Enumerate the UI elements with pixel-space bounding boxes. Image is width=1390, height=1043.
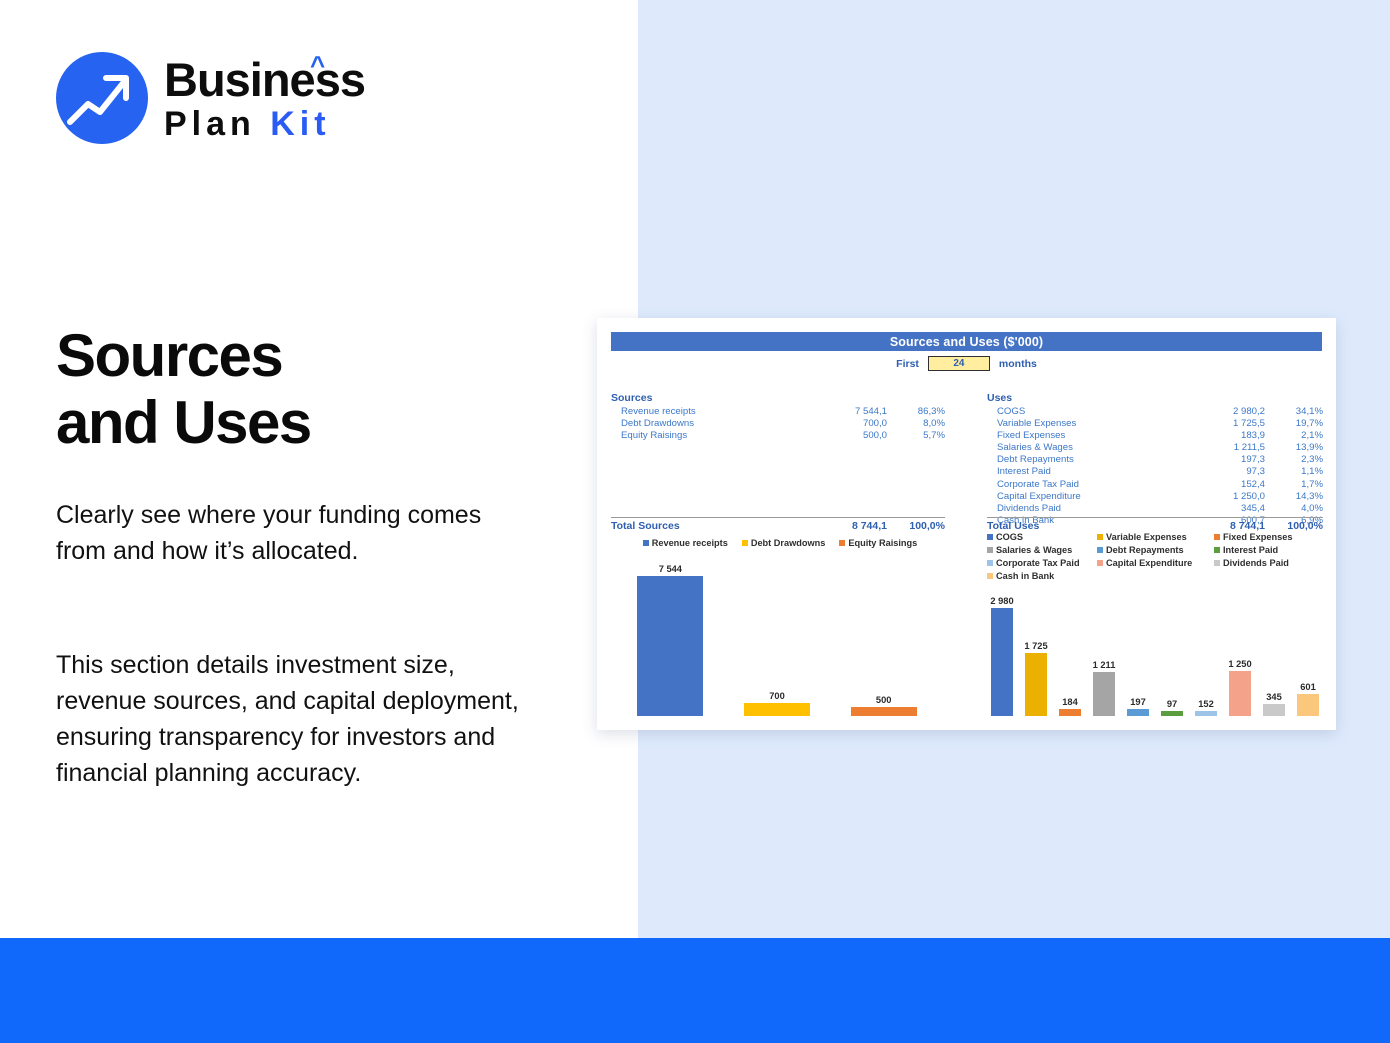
uses-rows: COGS2 980,234,1%Variable Expenses1 725,5… xyxy=(987,406,1323,527)
legend-item: Dividends Paid xyxy=(1214,558,1319,568)
table-row: Equity Raisings500,05,7% xyxy=(611,430,945,442)
legend-item: COGS xyxy=(987,532,1097,542)
period-suffix-label: months xyxy=(999,358,1037,370)
sources-total-row: Total Sources8 744,1100,0% xyxy=(611,517,945,532)
legend-item: Fixed Expenses xyxy=(1214,532,1319,542)
row-percent: 8,0% xyxy=(887,418,945,430)
bar-slot: 601 xyxy=(1291,584,1325,716)
row-percent: 1,1% xyxy=(1265,466,1323,478)
brand-name-line1: Business ^ xyxy=(164,56,365,103)
bar-value-label: 152 xyxy=(1198,699,1214,709)
bar-value-label: 7 544 xyxy=(659,564,682,574)
sources-bars: 7 544700500 xyxy=(617,552,937,716)
page-title: Sources and Uses xyxy=(56,322,576,456)
bottom-blue-band xyxy=(0,938,1390,1043)
legend-label: Revenue receipts xyxy=(652,538,728,548)
row-label: Equity Raisings xyxy=(611,430,801,442)
total-value: 8 744,1 xyxy=(801,520,887,532)
bar-slot: 197 xyxy=(1121,584,1155,716)
bar-slot: 1 250 xyxy=(1223,584,1257,716)
bar xyxy=(1093,672,1115,716)
legend-swatch-icon xyxy=(987,534,993,540)
legend-label: Debt Repayments xyxy=(1106,545,1184,555)
row-label: COGS xyxy=(987,406,1179,418)
table-row: Variable Expenses1 725,519,7% xyxy=(987,418,1323,430)
period-selector-row: First months xyxy=(611,356,1322,371)
legend-item: Debt Repayments xyxy=(1097,545,1214,555)
table-row: Fixed Expenses183,92,1% xyxy=(987,430,1323,442)
legend-item: Variable Expenses xyxy=(1097,532,1214,542)
legend-label: Corporate Tax Paid xyxy=(996,558,1080,568)
legend-item: Cash in Bank xyxy=(987,571,1097,581)
row-value: 1 725,5 xyxy=(1179,418,1265,430)
months-input[interactable] xyxy=(928,356,990,371)
bar-slot: 345 xyxy=(1257,584,1291,716)
legend-item: Interest Paid xyxy=(1214,545,1319,555)
bar-slot: 1 211 xyxy=(1087,584,1121,716)
row-value: 7 544,1 xyxy=(801,406,887,418)
bar-slot: 184 xyxy=(1053,584,1087,716)
uses-table: Uses COGS2 980,234,1%Variable Expenses1 … xyxy=(987,392,1323,527)
legend-label: COGS xyxy=(996,532,1023,542)
table-row: COGS2 980,234,1% xyxy=(987,406,1323,418)
uses-total-row: Total Uses8 744,1100,0% xyxy=(987,517,1323,532)
bar-value-label: 700 xyxy=(769,691,785,701)
row-percent: 34,1% xyxy=(1265,406,1323,418)
total-label: Total Uses xyxy=(987,520,1179,532)
legend-item: Salaries & Wages xyxy=(987,545,1097,555)
legend-swatch-icon xyxy=(742,540,748,546)
row-value: 500,0 xyxy=(801,430,887,442)
bar-slot: 2 980 xyxy=(985,584,1019,716)
row-value: 197,3 xyxy=(1179,454,1265,466)
row-value: 2 980,2 xyxy=(1179,406,1265,418)
period-prefix-label: First xyxy=(896,358,919,370)
legend-label: Fixed Expenses xyxy=(1223,532,1292,542)
bar-value-label: 197 xyxy=(1130,697,1146,707)
row-value: 1 211,5 xyxy=(1179,442,1265,454)
bar-value-label: 1 211 xyxy=(1093,660,1116,670)
brand-wordmark: Business ^ Plan Kit xyxy=(164,56,365,141)
legend-swatch-icon xyxy=(1097,560,1103,566)
legend-label: Debt Drawdowns xyxy=(751,538,826,548)
legend-swatch-icon xyxy=(1214,560,1220,566)
total-value: 8 744,1 xyxy=(1179,520,1265,532)
uses-chart-legend: COGSVariable ExpensesFixed ExpensesSalar… xyxy=(987,532,1323,581)
bar-value-label: 1 250 xyxy=(1228,659,1251,669)
bar xyxy=(637,576,703,716)
legend-swatch-icon xyxy=(987,573,993,579)
bar-value-label: 184 xyxy=(1062,697,1078,707)
legend-item: Capital Expenditure xyxy=(1097,558,1214,568)
uses-heading: Uses xyxy=(987,392,1323,404)
row-label: Debt Drawdowns xyxy=(611,418,801,430)
legend-swatch-icon xyxy=(1214,547,1220,553)
bar-slot: 97 xyxy=(1155,584,1189,716)
legend-swatch-icon xyxy=(1097,534,1103,540)
bar xyxy=(1297,694,1319,716)
row-percent: 2,3% xyxy=(1265,454,1323,466)
row-label: Dividends Paid xyxy=(987,503,1179,515)
bar xyxy=(1025,653,1047,716)
row-value: 700,0 xyxy=(801,418,887,430)
row-label: Debt Repayments xyxy=(987,454,1179,466)
row-label: Corporate Tax Paid xyxy=(987,479,1179,491)
legend-label: Cash in Bank xyxy=(996,571,1054,581)
bar xyxy=(1161,711,1183,716)
description-paragraph-1: Clearly see where your funding comes fro… xyxy=(56,497,526,569)
legend-label: Variable Expenses xyxy=(1106,532,1187,542)
row-percent: 19,7% xyxy=(1265,418,1323,430)
uses-bars: 2 9801 7251841 211197971521 250345601 xyxy=(985,584,1325,716)
sources-rows: Revenue receipts7 544,186,3%Debt Drawdow… xyxy=(611,406,945,442)
bar-value-label: 97 xyxy=(1167,699,1177,709)
sources-table: Sources Revenue receipts7 544,186,3%Debt… xyxy=(611,392,945,442)
table-row: Debt Drawdowns700,08,0% xyxy=(611,418,945,430)
sources-and-uses-sheet: Sources and Uses ($'000) First months So… xyxy=(597,318,1336,730)
legend-item: Corporate Tax Paid xyxy=(987,558,1097,568)
bar-value-label: 500 xyxy=(876,695,892,705)
brand-name-kit: Kit xyxy=(270,105,330,143)
sheet-title: Sources and Uses ($'000) xyxy=(611,332,1322,351)
row-percent: 2,1% xyxy=(1265,430,1323,442)
legend-item: Revenue receipts xyxy=(643,538,728,548)
legend-label: Equity Raisings xyxy=(848,538,917,548)
sources-heading: Sources xyxy=(611,392,945,404)
table-row: Corporate Tax Paid152,41,7% xyxy=(987,479,1323,491)
row-label: Fixed Expenses xyxy=(987,430,1179,442)
bar-value-label: 345 xyxy=(1266,692,1282,702)
sources-bar-chart: 7 544700500 xyxy=(617,558,937,722)
total-percent: 100,0% xyxy=(887,520,945,532)
brand-circumflex-accent: ^ xyxy=(310,52,324,78)
bar xyxy=(1229,671,1251,716)
brand-name-business: Business xyxy=(164,53,365,106)
bar xyxy=(1127,709,1149,716)
row-percent: 14,3% xyxy=(1265,491,1323,503)
row-value: 1 250,0 xyxy=(1179,491,1265,503)
bar xyxy=(991,608,1013,716)
total-label: Total Sources xyxy=(611,520,801,532)
description-paragraph-2: This section details investment size, re… xyxy=(56,647,526,791)
row-value: 183,9 xyxy=(1179,430,1265,442)
row-label: Revenue receipts xyxy=(611,406,801,418)
row-value: 345,4 xyxy=(1179,503,1265,515)
bar-slot: 1 725 xyxy=(1019,584,1053,716)
legend-swatch-icon xyxy=(643,540,649,546)
row-label: Salaries & Wages xyxy=(987,442,1179,454)
bar-slot: 7 544 xyxy=(617,552,724,716)
trending-up-arrow-icon xyxy=(56,52,148,144)
legend-label: Dividends Paid xyxy=(1223,558,1289,568)
table-row: Debt Repayments197,32,3% xyxy=(987,454,1323,466)
row-percent: 86,3% xyxy=(887,406,945,418)
legend-swatch-icon xyxy=(987,560,993,566)
row-label: Interest Paid xyxy=(987,466,1179,478)
brand-name-line2: Plan Kit xyxy=(164,107,365,141)
bar-slot: 700 xyxy=(724,552,831,716)
bar-slot: 152 xyxy=(1189,584,1223,716)
bar xyxy=(1263,704,1285,717)
table-row: Capital Expenditure1 250,014,3% xyxy=(987,491,1323,503)
legend-swatch-icon xyxy=(987,547,993,553)
bar xyxy=(1059,709,1081,716)
bar-value-label: 1 725 xyxy=(1024,641,1047,651)
legend-label: Capital Expenditure xyxy=(1106,558,1192,568)
row-label: Variable Expenses xyxy=(987,418,1179,430)
row-percent: 4,0% xyxy=(1265,503,1323,515)
row-percent: 13,9% xyxy=(1265,442,1323,454)
legend-swatch-icon xyxy=(1097,547,1103,553)
row-percent: 1,7% xyxy=(1265,479,1323,491)
total-percent: 100,0% xyxy=(1265,520,1323,532)
table-row: Salaries & Wages1 211,513,9% xyxy=(987,442,1323,454)
bar xyxy=(851,707,917,716)
legend-label: Interest Paid xyxy=(1223,545,1278,555)
row-percent: 5,7% xyxy=(887,430,945,442)
legend-label: Salaries & Wages xyxy=(996,545,1072,555)
row-label: Capital Expenditure xyxy=(987,491,1179,503)
bar xyxy=(744,703,810,716)
row-value: 152,4 xyxy=(1179,479,1265,491)
brand-name-plan: Plan xyxy=(164,105,270,143)
legend-item: Debt Drawdowns xyxy=(742,538,826,548)
bar-value-label: 2 980 xyxy=(990,596,1013,606)
legend-swatch-icon xyxy=(839,540,845,546)
table-row: Revenue receipts7 544,186,3% xyxy=(611,406,945,418)
table-row: Interest Paid97,31,1% xyxy=(987,466,1323,478)
brand-logo: Business ^ Plan Kit xyxy=(56,52,365,144)
row-value: 97,3 xyxy=(1179,466,1265,478)
uses-bar-chart: 2 9801 7251841 211197971521 250345601 xyxy=(985,590,1325,722)
sources-chart-legend: Revenue receiptsDebt DrawdownsEquity Rai… xyxy=(625,538,935,548)
legend-item: Equity Raisings xyxy=(839,538,917,548)
bar-value-label: 601 xyxy=(1300,682,1316,692)
bar-slot: 500 xyxy=(830,552,937,716)
bar xyxy=(1195,711,1217,717)
table-row: Dividends Paid345,44,0% xyxy=(987,503,1323,515)
legend-swatch-icon xyxy=(1214,534,1220,540)
